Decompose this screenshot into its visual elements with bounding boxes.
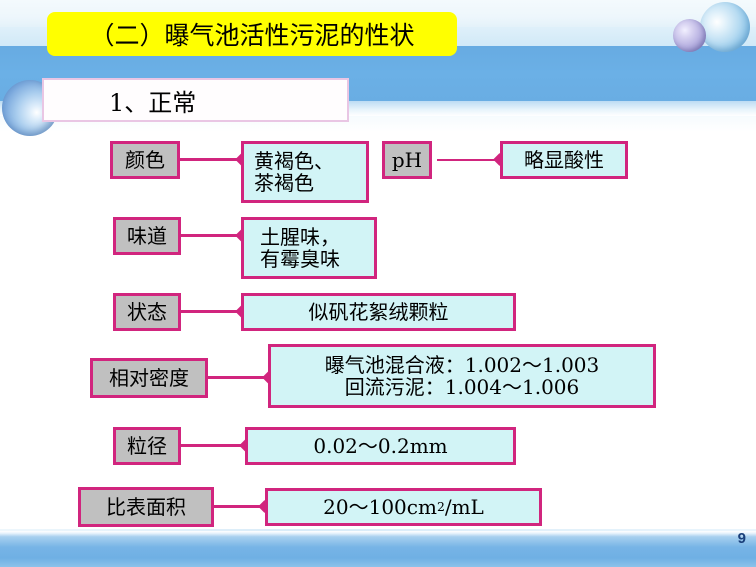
value-box-density: 曝气池混合液：1.002～1.003 回流污泥：1.004～1.006 [268, 344, 656, 408]
connector-specific-area [212, 505, 264, 508]
page-title: （二）曝气池活性污泥的性状 [47, 12, 457, 56]
connector-color [178, 158, 241, 161]
value-box-specific-area: 20～100cm2/mL [265, 488, 542, 526]
key-box-ph: pH [382, 141, 432, 179]
key-box-odor: 味道 [113, 217, 181, 255]
slide-canvas: （二）曝气池活性污泥的性状 1、正常 颜色 黄褐色、 茶褐色 pH 略显酸性 味… [0, 0, 756, 567]
connector-odor [179, 234, 241, 237]
key-box-specific-area: 比表面积 [78, 487, 214, 527]
sphere-icon-small [673, 19, 706, 52]
value-box-particle-size: 0.02～0.2mm [245, 427, 516, 465]
specific-area-suffix: /mL [445, 496, 484, 518]
value-box-color: 黄褐色、 茶褐色 [241, 141, 369, 203]
key-box-state: 状态 [113, 293, 181, 331]
value-box-odor: 土腥味， 有霉臭味 [241, 217, 377, 279]
value-box-ph: 略显酸性 [500, 141, 628, 179]
sphere-icon-large [700, 2, 750, 52]
specific-area-prefix: 20～100cm [323, 496, 437, 518]
connector-state [179, 310, 241, 313]
value-box-state: 似矾花絮绒颗粒 [241, 293, 516, 331]
section-heading: 1、正常 [42, 78, 349, 122]
connector-ph [437, 159, 499, 161]
key-box-color: 颜色 [110, 141, 180, 179]
connector-density [206, 376, 268, 379]
background-band-bottom [0, 531, 756, 567]
key-box-density: 相对密度 [90, 358, 208, 398]
connector-particle-size [179, 444, 245, 447]
key-box-particle-size: 粒径 [113, 427, 181, 465]
page-number: 9 [738, 530, 746, 547]
specific-area-exponent: 2 [437, 500, 445, 514]
